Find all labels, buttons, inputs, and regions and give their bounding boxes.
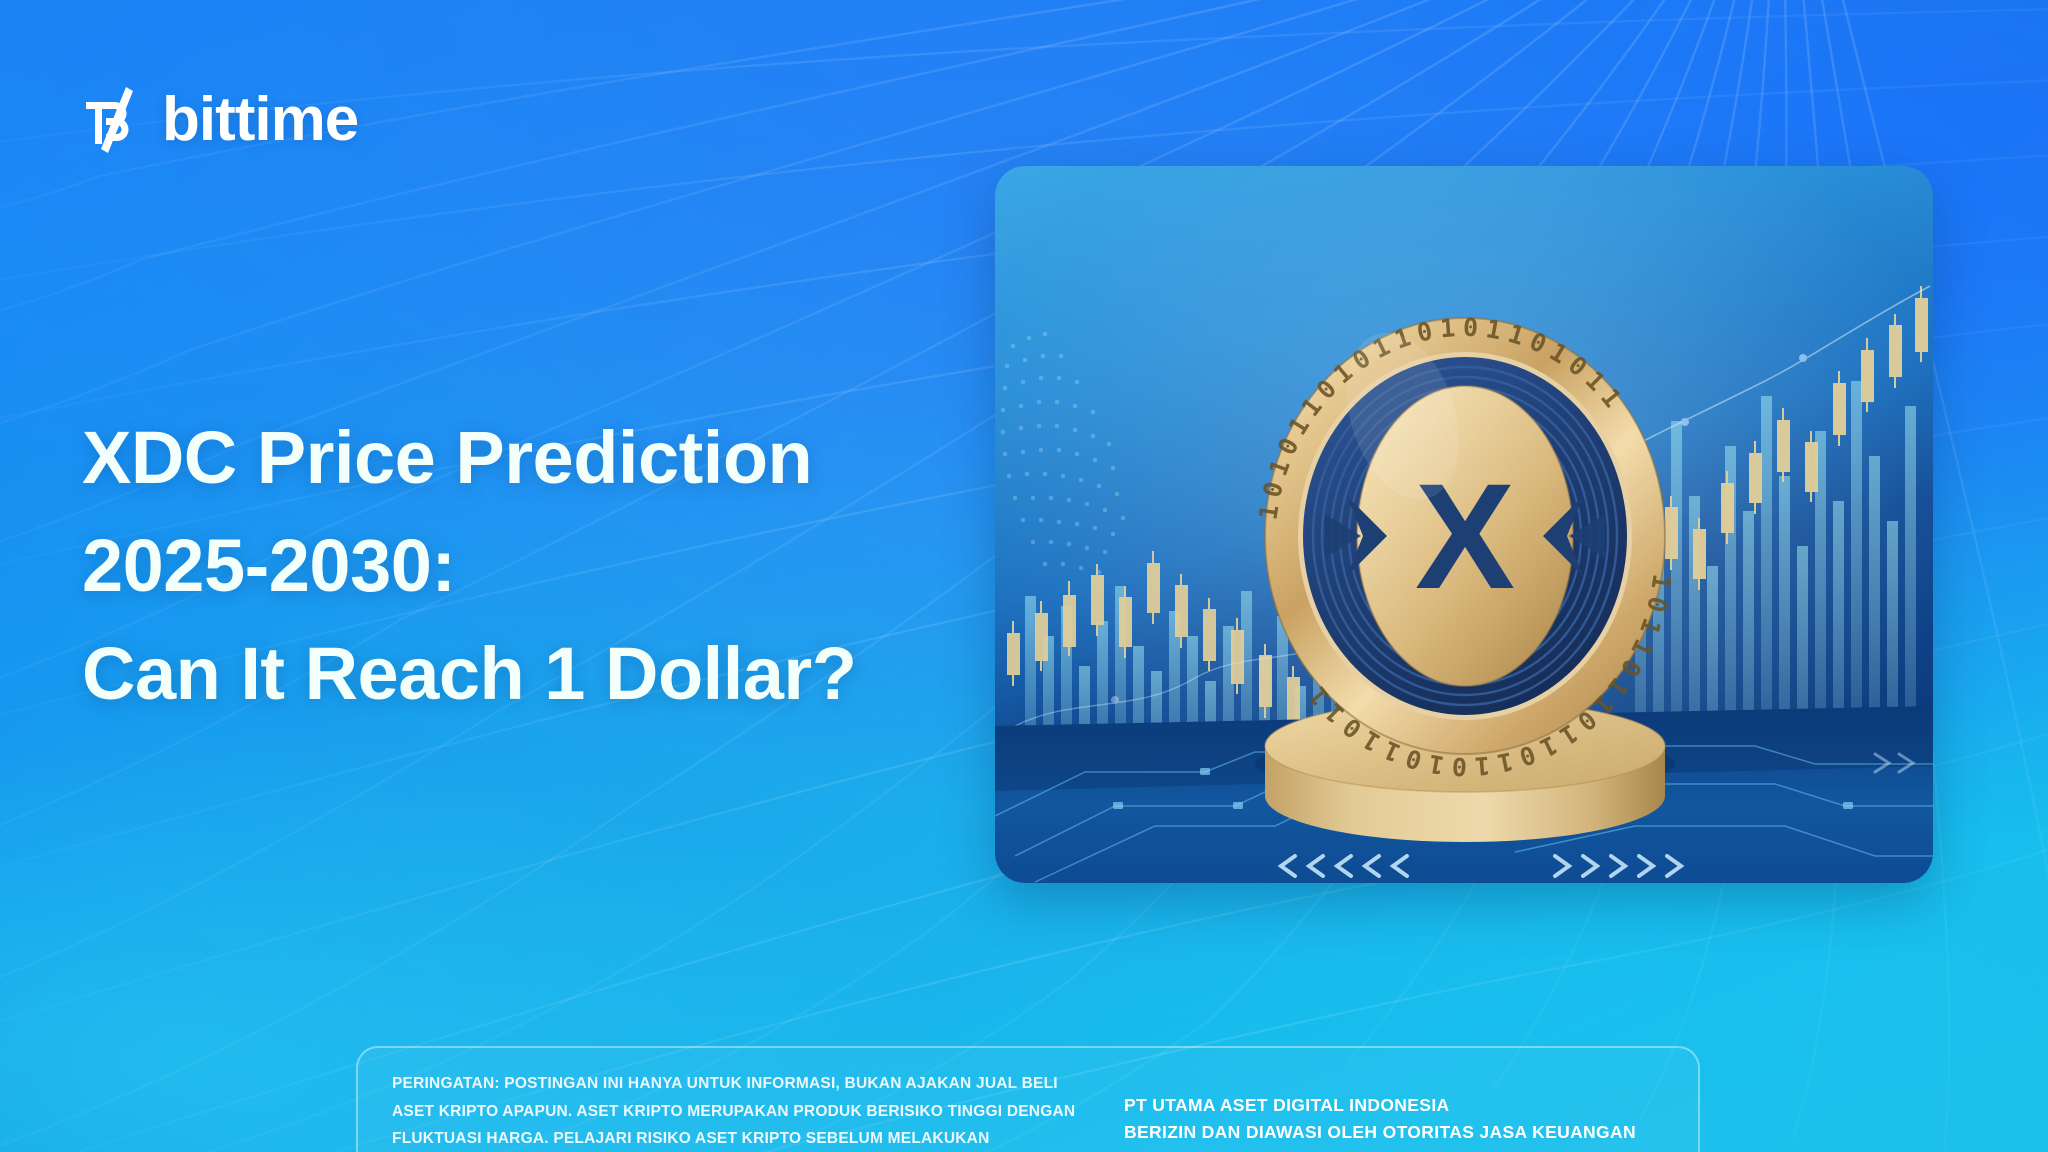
disclaimer-warning-text: PERINGATAN: POSTINGAN INI HANYA UNTUK IN… [392, 1070, 1082, 1152]
xdc-coin-podium-illustration: 101011010110101101011 101101101101101011… [995, 166, 1933, 883]
brand-logo[interactable]: bittime [86, 84, 358, 156]
headline-line-1: XDC Price Prediction [82, 418, 982, 498]
entity-name: PT UTAMA ASET DIGITAL INDONESIA [1124, 1092, 1664, 1119]
headline-line-2: 2025-2030: [82, 526, 982, 606]
hero-image: 101011010110101101011 101101101101101011… [995, 166, 1933, 883]
headline-line-3: Can It Reach 1 Dollar? [82, 634, 982, 714]
disclaimer-bar: PERINGATAN: POSTINGAN INI HANYA UNTUK IN… [356, 1046, 1700, 1152]
brand-name: bittime [162, 89, 358, 151]
bittime-b-mark-icon [86, 85, 144, 155]
entity-license: BERIZIN DAN DIAWASI OLEH OTORITAS JASA K… [1124, 1119, 1664, 1146]
page-title: XDC Price Prediction 2025-2030: Can It R… [82, 418, 982, 714]
regulator-notice: PT UTAMA ASET DIGITAL INDONESIA BERIZIN … [1124, 1070, 1664, 1146]
